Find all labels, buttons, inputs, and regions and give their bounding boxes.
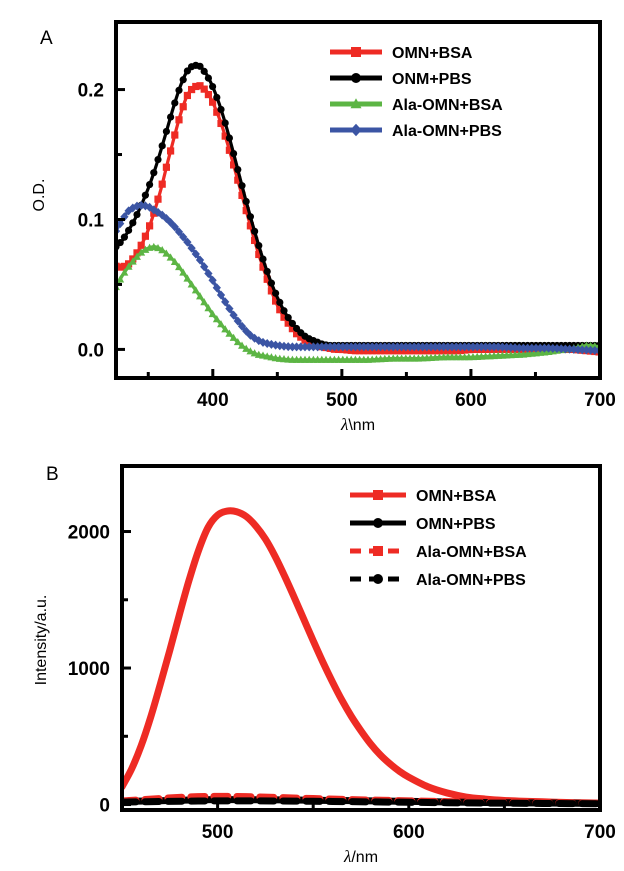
legend-swatch-marker bbox=[350, 124, 362, 137]
series-b-0 bbox=[122, 511, 600, 803]
legend-label: OMN+BSA bbox=[416, 488, 497, 505]
legend-label: ONM+PBS bbox=[392, 71, 472, 88]
x-tick-label: 500 bbox=[202, 822, 234, 843]
legend-item[interactable]: Ala-OMN+PBS bbox=[350, 572, 526, 589]
series-b-3 bbox=[122, 801, 600, 804]
y-tick-label: 0.1 bbox=[78, 210, 105, 231]
legend-item[interactable]: OMN+BSA bbox=[350, 488, 497, 505]
x-tick-label: 600 bbox=[393, 822, 425, 843]
legend-label: OMN+PBS bbox=[416, 516, 496, 533]
legend-a: OMN+BSAONM+PBSAla-OMN+BSAAla-OMN+PBS bbox=[330, 45, 503, 140]
legend-item[interactable]: Ala-OMN+BSA bbox=[350, 544, 527, 561]
x-tick-label: 400 bbox=[197, 390, 229, 411]
y-tick-label: 2000 bbox=[68, 523, 110, 544]
legend-swatch-marker bbox=[351, 73, 361, 83]
y-axis-title: Intensity/a.u. bbox=[33, 595, 50, 686]
legend-b: OMN+BSAOMN+PBSAla-OMN+BSAAla-OMN+PBS bbox=[350, 488, 527, 589]
y-tick-label: 0.2 bbox=[78, 81, 104, 102]
y-axis-title: O.D. bbox=[31, 179, 48, 212]
panel-letter-a: A bbox=[40, 28, 53, 49]
legend-swatch-marker bbox=[373, 546, 383, 556]
legend-item[interactable]: Ala-OMN+PBS bbox=[330, 123, 502, 140]
legend-swatch-marker bbox=[373, 518, 383, 528]
legend-swatch-marker bbox=[351, 47, 361, 57]
panel-a: A4005006007000.00.10.2O.D.λ\nmOMN+BSAONM… bbox=[0, 0, 624, 440]
legend-item[interactable]: OMN+BSA bbox=[330, 45, 473, 62]
legend-label: Ala-OMN+PBS bbox=[416, 572, 526, 589]
x-tick-label: 600 bbox=[455, 390, 487, 411]
legend-item[interactable]: OMN+PBS bbox=[350, 516, 496, 533]
x-tick-label: 700 bbox=[584, 822, 616, 843]
figure-container: A4005006007000.00.10.2O.D.λ\nmOMN+BSAONM… bbox=[0, 0, 624, 871]
legend-label: OMN+BSA bbox=[392, 45, 473, 62]
legend-label: Ala-OMN+BSA bbox=[416, 544, 527, 561]
panel-letter-b: B bbox=[46, 464, 59, 485]
legend-label: Ala-OMN+BSA bbox=[392, 97, 503, 114]
plot-area-b bbox=[122, 511, 600, 804]
panel-b-plot: B500600700010002000Intensity/a.u.λ/nmOMN… bbox=[0, 440, 624, 871]
series-a-0 bbox=[112, 82, 602, 355]
x-axis-title: λ/nm bbox=[343, 847, 378, 866]
legend-item[interactable]: Ala-OMN+BSA bbox=[330, 97, 503, 114]
legend-swatch-marker bbox=[373, 490, 383, 500]
panel-b: B500600700010002000Intensity/a.u.λ/nmOMN… bbox=[0, 440, 624, 871]
legend-item[interactable]: ONM+PBS bbox=[330, 71, 472, 88]
y-tick-label: 0 bbox=[99, 796, 110, 817]
x-tick-label: 500 bbox=[326, 390, 358, 411]
y-tick-label: 1000 bbox=[68, 659, 110, 680]
plot-frame-b bbox=[122, 466, 600, 810]
x-axis-title: λ\nm bbox=[340, 415, 375, 434]
y-tick-label: 0.0 bbox=[78, 340, 104, 361]
legend-swatch-marker bbox=[373, 574, 383, 584]
panel-a-plot: A4005006007000.00.10.2O.D.λ\nmOMN+BSAONM… bbox=[0, 0, 624, 440]
legend-label: Ala-OMN+PBS bbox=[392, 123, 502, 140]
x-tick-label: 700 bbox=[584, 390, 616, 411]
